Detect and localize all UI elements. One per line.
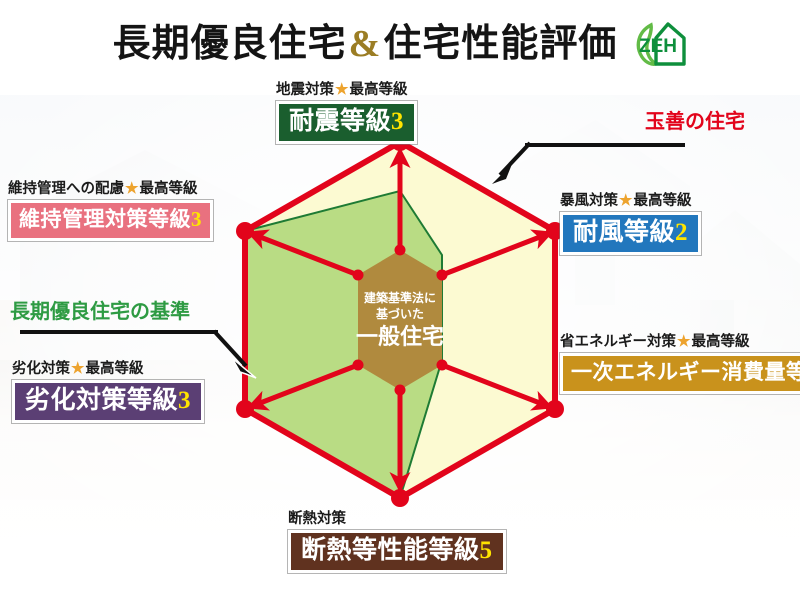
- vertex-degradation: [236, 400, 254, 418]
- annotation-standard: 長期優良住宅の基準: [10, 302, 190, 322]
- chip-wind-num: 2: [675, 219, 688, 246]
- caption-maintenance: 維持管理への配慮★最高等級: [8, 181, 213, 198]
- chip-wind-text: 耐風等級: [573, 219, 675, 246]
- chip-insulation-text: 断熱等性能等級: [301, 537, 480, 564]
- caption-earthquake-head: 地震対策: [276, 82, 334, 98]
- chip-maintenance-text: 維持管理対策等級: [19, 207, 191, 231]
- chip-energy-text: 一次エネルギー消費量等級: [571, 360, 800, 384]
- caption-maintenance-head: 維持管理への配慮: [8, 181, 124, 197]
- annotation-standard-text: 長期優良住宅の基準: [10, 302, 190, 322]
- annotation-tamayoshi-text: 玉善の住宅: [645, 112, 745, 132]
- label-earthquake: 地震対策★最高等級 耐震等級3: [276, 82, 417, 144]
- caption-energy-head: 省エネルギー対策: [560, 334, 676, 350]
- caption-maintenance-tail: 最高等級: [139, 181, 197, 197]
- vertex-energy: [546, 400, 564, 418]
- annotation-tamayoshi: 玉善の住宅: [645, 112, 745, 132]
- caption-earthquake: 地震対策★最高等級: [276, 82, 417, 99]
- label-energy: 省エネルギー対策★最高等級 一次エネルギー消費量等級6: [560, 334, 800, 394]
- annotation-tamayoshi-arrow: [480, 140, 690, 200]
- chip-wind[interactable]: 耐風等級2: [560, 212, 701, 255]
- label-insulation: 断熱対策 断熱等性能等級5: [288, 512, 506, 573]
- center-label-line3: 一般住宅: [356, 324, 444, 349]
- chip-maintenance[interactable]: 維持管理対策等級3: [8, 200, 213, 241]
- annotation-standard-arrow: [18, 328, 268, 393]
- label-wind: 暴風対策★最高等級 耐風等級2: [560, 193, 701, 255]
- chip-maintenance-num: 3: [191, 207, 202, 231]
- chip-earthquake[interactable]: 耐震等級3: [276, 101, 417, 144]
- chip-earthquake-text: 耐震等級: [289, 108, 391, 135]
- star-icon: ★: [334, 82, 349, 98]
- caption-earthquake-tail: 最高等級: [349, 82, 407, 98]
- chip-insulation-num: 5: [480, 537, 493, 564]
- chip-energy[interactable]: 一次エネルギー消費量等級6: [560, 353, 800, 394]
- page-title-post: 住宅性能評価: [383, 23, 617, 65]
- center-label-line1: 建築基準法に: [363, 290, 436, 305]
- vertex-maintenance: [236, 222, 254, 240]
- star-icon: ★: [124, 181, 139, 197]
- caption-energy-tail: 最高等級: [691, 334, 749, 350]
- center-label-line2: 基づいた: [375, 306, 424, 321]
- label-maintenance: 維持管理への配慮★最高等級 維持管理対策等級3: [8, 181, 213, 241]
- caption-energy: 省エネルギー対策★最高等級: [560, 334, 800, 351]
- page-title: 長期優良住宅&住宅性能評価: [113, 25, 618, 63]
- caption-insulation-head: 断熱対策: [288, 511, 346, 527]
- vertex-insulation: [391, 489, 409, 507]
- caption-insulation: 断熱対策: [288, 512, 506, 528]
- page-title-ampersand: &: [347, 23, 384, 65]
- page-title-pre: 長期優良住宅: [113, 23, 347, 65]
- chip-earthquake-num: 3: [391, 108, 404, 135]
- zeh-logo: ZEH: [631, 19, 687, 69]
- star-icon: ★: [676, 334, 691, 350]
- chip-insulation[interactable]: 断熱等性能等級5: [288, 530, 506, 573]
- zeh-logo-text: ZEH: [639, 36, 677, 57]
- header: 長期優良住宅&住宅性能評価 ZEH: [0, 14, 800, 74]
